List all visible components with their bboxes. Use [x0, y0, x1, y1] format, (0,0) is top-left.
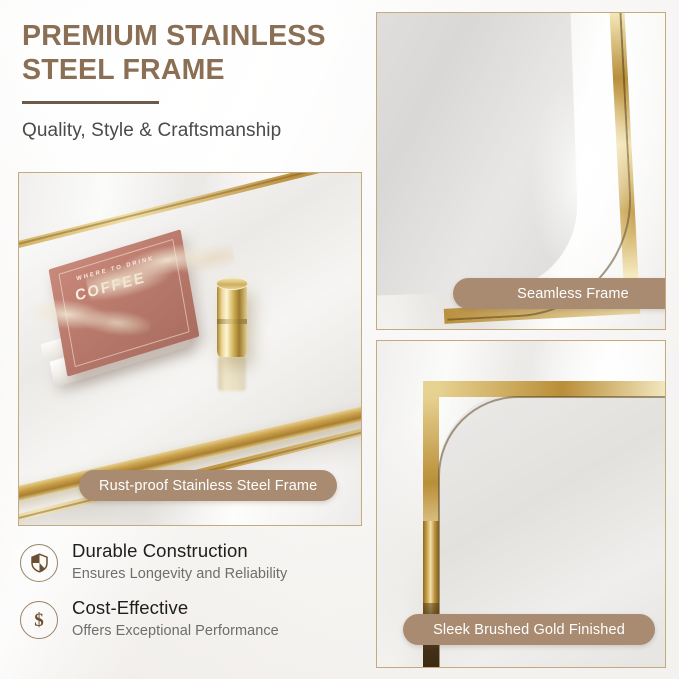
dollar-icon: $ [20, 601, 58, 639]
feature-subtitle: Ensures Longevity and Reliability [72, 562, 287, 585]
feature-title: Cost-Effective [72, 597, 279, 619]
header-block: PREMIUM STAINLESS STEEL FRAME Quality, S… [22, 20, 362, 142]
panel-seamless-frame-photo: Seamless Frame [376, 12, 666, 330]
feature-title: Durable Construction [72, 540, 287, 562]
panel-main-product-photo: WHERE TO DRINK COFFEE Rust-proof Stainle… [18, 172, 362, 526]
panel-brushed-gold-photo: Sleek Brushed Gold Finished [376, 340, 666, 668]
feature-text-block: Cost-Effective Offers Exceptional Perfor… [72, 597, 279, 642]
feature-item-durable-construction: Durable Construction Ensures Longevity a… [20, 540, 360, 585]
feature-item-cost-effective: $ Cost-Effective Offers Exceptional Perf… [20, 597, 360, 642]
svg-text:$: $ [34, 610, 44, 631]
candle-rim [216, 277, 248, 290]
caption-pill-brushed-gold: Sleek Brushed Gold Finished [403, 614, 655, 645]
candle-reflection [218, 357, 246, 391]
feature-text-block: Durable Construction Ensures Longevity a… [72, 540, 287, 585]
page-subtitle: Quality, Style & Craftsmanship [22, 104, 362, 142]
page-title: PREMIUM STAINLESS STEEL FRAME [22, 20, 362, 87]
feature-subtitle: Offers Exceptional Performance [72, 619, 279, 642]
candle-band [217, 319, 247, 324]
panel-main-scene: WHERE TO DRINK COFFEE Rust-proof Stainle… [19, 173, 361, 525]
panel-top-scene: Seamless Frame [377, 13, 665, 329]
panel-bottom-scene: Sleek Brushed Gold Finished [377, 341, 665, 667]
shield-icon [20, 544, 58, 582]
caption-pill-rust-proof: Rust-proof Stainless Steel Frame [79, 470, 337, 501]
caption-pill-seamless-frame: Seamless Frame [453, 278, 665, 309]
feature-list: Durable Construction Ensures Longevity a… [20, 540, 360, 654]
product-infographic: PREMIUM STAINLESS STEEL FRAME Quality, S… [0, 0, 679, 679]
gold-curved-frame-edge [481, 13, 631, 319]
